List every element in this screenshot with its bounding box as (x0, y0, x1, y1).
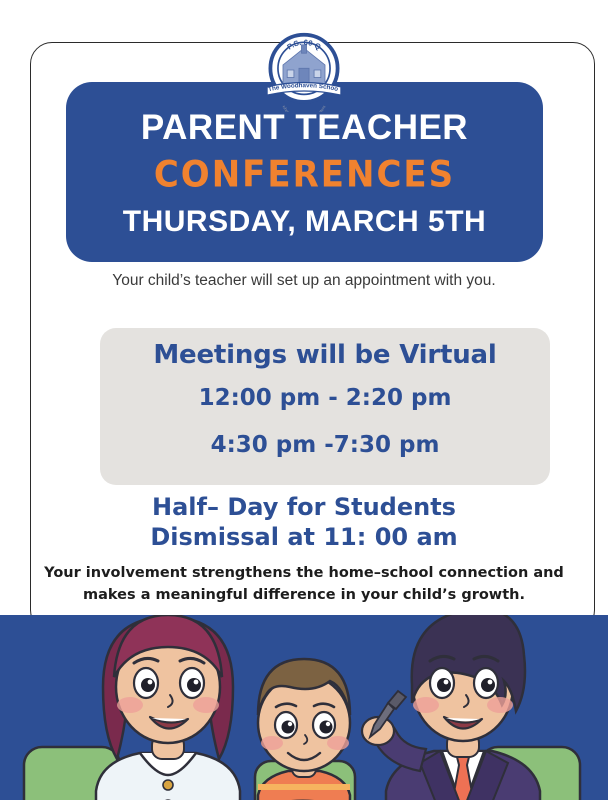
meeting-time-slot-1: 12:00 pm - 2:20 pm (100, 385, 550, 411)
character-child (258, 659, 350, 800)
half-day-notice: Half– Day for Students (0, 493, 608, 521)
school-logo-icon: P.S. 60 Q The Woodhaven School where eac… (262, 28, 346, 112)
svg-text:where each day your matters: where each day your matters (282, 105, 327, 112)
meeting-time-slot-2: 4:30 pm -7:30 pm (100, 432, 550, 458)
event-date: THURSDAY, MARCH 5TH (123, 205, 486, 239)
logo-motto-text: where each day your matters (282, 105, 327, 112)
character-mother (96, 615, 240, 800)
involvement-message: Your involvement strengthens the home–sc… (40, 563, 568, 607)
page-subtitle-conferences: CONFERENCES (154, 154, 455, 196)
meetings-heading: Meetings will be Virtual (100, 340, 550, 370)
conference-illustration (0, 615, 608, 800)
page-title: PARENT TEACHER (141, 110, 468, 147)
illustration-band (0, 615, 608, 800)
dismissal-time: Dismissal at 11: 00 am (0, 523, 608, 551)
appointment-note: Your child’s teacher will set up an appo… (0, 272, 608, 290)
flyer-page: PARENT TEACHER CONFERENCES THURSDAY, MAR… (0, 0, 608, 800)
